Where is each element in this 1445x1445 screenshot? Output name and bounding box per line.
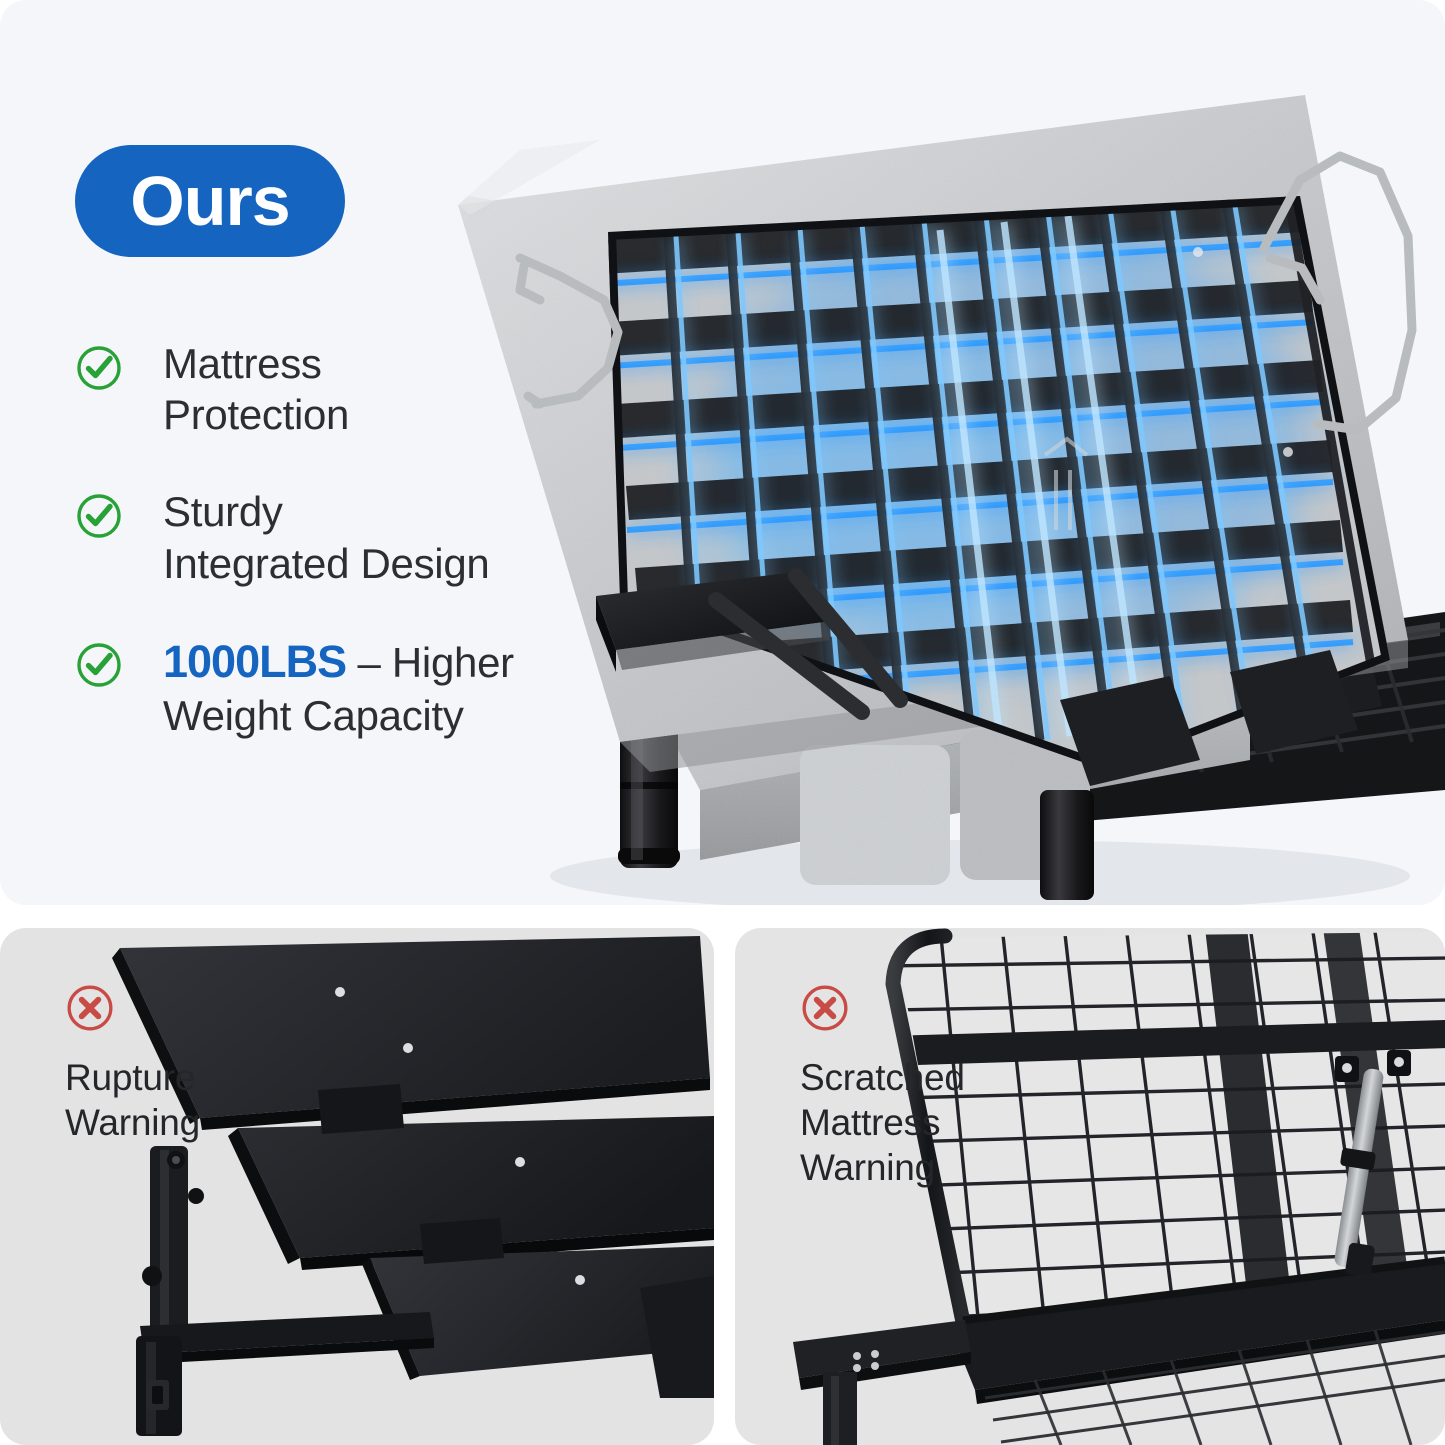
weight-capacity-value: 1000LBS — [163, 636, 346, 687]
check-circle-icon — [75, 344, 123, 392]
rupture-warning-label: Rupture Warning — [65, 1055, 200, 1145]
ours-badge: Ours — [75, 145, 345, 257]
x-circle-icon — [65, 983, 115, 1033]
scratched-warning-label: Scratched Mattress Warning — [800, 1055, 965, 1190]
feature-item-weight-capacity: 1000LBS – Higher Weight Capacity — [75, 635, 595, 741]
infographic-root: Ours Mattress Protection Sturdy Integrat… — [0, 0, 1445, 1445]
ours-panel: Ours Mattress Protection Sturdy Integrat… — [0, 0, 1445, 905]
feature-label: Sturdy Integrated Design — [163, 486, 595, 588]
rupture-warning-header: Rupture Warning — [65, 983, 200, 1145]
feature-label: Mattress Protection — [163, 338, 595, 440]
ours-badge-label: Ours — [130, 166, 289, 236]
scratched-warning-header: Scratched Mattress Warning — [800, 983, 965, 1190]
scratched-mattress-warning-panel: Scratched Mattress Warning — [735, 928, 1445, 1445]
feature-item-sturdy-design: Sturdy Integrated Design — [75, 486, 595, 588]
rupture-warning-panel: Rupture Warning — [0, 928, 714, 1445]
check-circle-icon — [75, 641, 123, 689]
x-circle-icon — [800, 983, 850, 1033]
leg-rear-right — [1040, 790, 1094, 900]
feature-item-mattress-protection: Mattress Protection — [75, 338, 595, 440]
feature-label: 1000LBS – Higher Weight Capacity — [163, 635, 595, 741]
check-circle-icon — [75, 492, 123, 540]
feature-list: Mattress Protection Sturdy Integrated De… — [75, 338, 595, 787]
